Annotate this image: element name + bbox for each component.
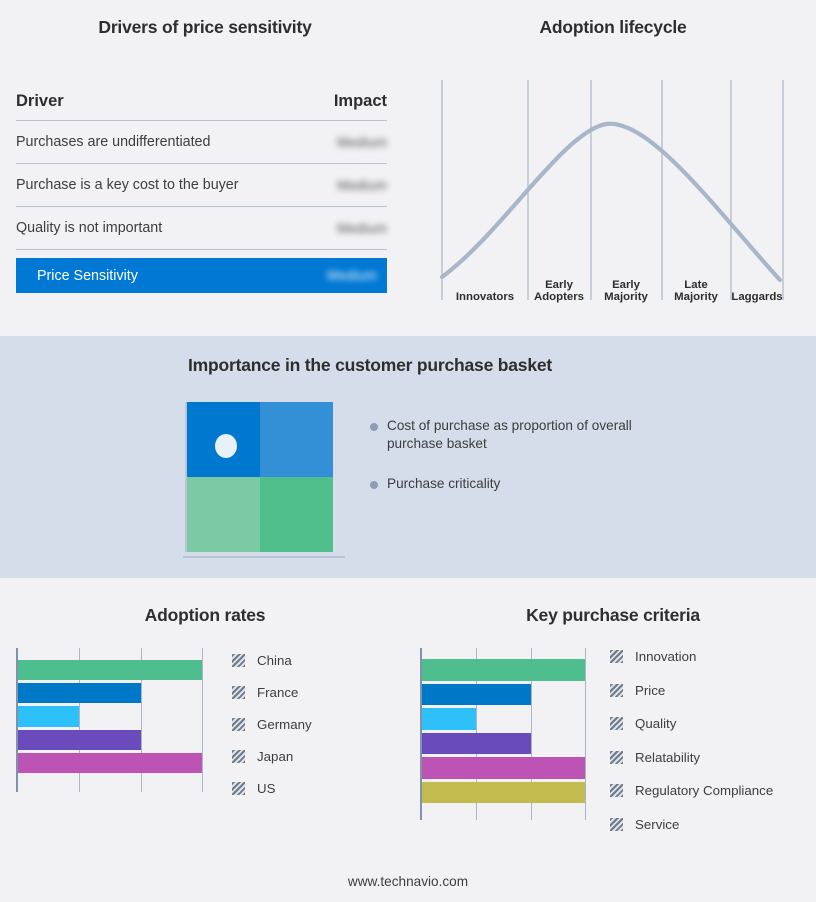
list-item: Relatability bbox=[610, 741, 773, 775]
impact-value: Medium bbox=[337, 135, 387, 150]
adoption-rates-legend: ChinaFranceGermanyJapanUS bbox=[232, 644, 312, 804]
criteria-chart bbox=[420, 648, 604, 820]
bar bbox=[422, 782, 585, 804]
drivers-title: Drivers of price sensitivity bbox=[0, 17, 410, 38]
legend-swatch-icon bbox=[232, 718, 245, 731]
driver-label: Quality is not important bbox=[16, 220, 162, 236]
summary-impact-value: Medium bbox=[327, 268, 377, 283]
list-item: China bbox=[232, 644, 312, 676]
list-item: Quality bbox=[610, 707, 773, 741]
legend-label: Germany bbox=[257, 717, 312, 732]
legend-label: Service bbox=[635, 817, 679, 832]
stage-label: Late bbox=[684, 279, 707, 291]
lifecycle-curve bbox=[442, 124, 780, 280]
bar bbox=[422, 733, 531, 755]
legend-item: Cost of purchase as proportion of overal… bbox=[370, 417, 670, 453]
impact-value: Medium bbox=[337, 178, 387, 193]
drivers-panel: Drivers of price sensitivity Driver Impa… bbox=[0, 0, 410, 336]
stage-label: Majority bbox=[604, 291, 648, 303]
stage-label: Early bbox=[545, 279, 574, 291]
bullet-icon bbox=[370, 481, 378, 489]
list-item: Innovation bbox=[610, 640, 773, 674]
bar bbox=[18, 706, 79, 726]
list-item: Price bbox=[610, 674, 773, 708]
list-item: Germany bbox=[232, 708, 312, 740]
matrix-quadrant-bottom-right bbox=[260, 477, 333, 552]
legend-label: Cost of purchase as proportion of overal… bbox=[387, 417, 670, 453]
legend-swatch-icon bbox=[232, 750, 245, 763]
impact-value: Medium bbox=[337, 221, 387, 236]
matrix-quadrant-bottom-left bbox=[187, 477, 260, 552]
legend-swatch-icon bbox=[610, 717, 623, 730]
criteria-title: Key purchase criteria bbox=[410, 605, 816, 626]
legend-swatch-icon bbox=[610, 684, 623, 697]
bar bbox=[18, 753, 202, 773]
list-item: Regulatory Compliance bbox=[610, 774, 773, 808]
bar bbox=[422, 684, 531, 706]
matrix-title: Importance in the customer purchase bask… bbox=[0, 355, 740, 376]
lifecycle-panel: Adoption lifecycle Innovators Early Adop… bbox=[410, 0, 816, 336]
plot-area bbox=[16, 648, 224, 792]
stage-label: Laggards bbox=[731, 291, 782, 303]
bar bbox=[18, 683, 141, 703]
bar bbox=[422, 708, 476, 730]
legend-item: Purchase criticality bbox=[370, 475, 670, 493]
matrix-x-axis bbox=[183, 556, 345, 558]
criteria-panel: Key purchase criteria InnovationPriceQua… bbox=[410, 578, 816, 902]
legend-swatch-icon bbox=[610, 784, 623, 797]
legend-swatch-icon bbox=[232, 782, 245, 795]
legend-swatch-icon bbox=[610, 818, 623, 831]
list-item: France bbox=[232, 676, 312, 708]
lifecycle-title: Adoption lifecycle bbox=[410, 17, 816, 38]
legend-label: Japan bbox=[257, 749, 293, 764]
footer-url: www.technavio.com bbox=[0, 874, 816, 889]
lifecycle-gridlines bbox=[442, 80, 783, 300]
legend-label: China bbox=[257, 653, 292, 668]
legend-label: Quality bbox=[635, 716, 676, 731]
list-item: US bbox=[232, 772, 312, 804]
stage-label: Innovators bbox=[456, 291, 514, 303]
driver-label: Purchases are undifferentiated bbox=[16, 134, 210, 150]
table-row: Purchases are undifferentiated Medium bbox=[16, 121, 387, 164]
list-item: Japan bbox=[232, 740, 312, 772]
matrix-quadrant-top-right bbox=[260, 402, 333, 477]
drivers-table: Driver Impact Purchases are undifferenti… bbox=[16, 92, 387, 293]
bar bbox=[18, 660, 202, 680]
plot-area bbox=[420, 648, 604, 820]
bar bbox=[422, 659, 585, 681]
importance-matrix bbox=[185, 402, 333, 552]
legend-label: US bbox=[257, 781, 275, 796]
summary-label: Price Sensitivity bbox=[37, 268, 138, 284]
matrix-legend: Cost of purchase as proportion of overal… bbox=[370, 417, 670, 515]
bullet-icon bbox=[370, 423, 378, 431]
legend-swatch-icon bbox=[610, 751, 623, 764]
table-row: Quality is not important Medium bbox=[16, 207, 387, 250]
list-item: Service bbox=[610, 808, 773, 842]
bar bbox=[18, 730, 141, 750]
adoption-rates-chart bbox=[16, 648, 224, 792]
lifecycle-chart: Innovators Early Adopters Early Majority… bbox=[428, 72, 798, 312]
legend-label: Price bbox=[635, 683, 665, 698]
criteria-legend: InnovationPriceQualityRelatabilityRegula… bbox=[610, 640, 773, 841]
column-header-impact: Impact bbox=[334, 92, 387, 111]
adoption-rates-panel: Adoption rates ChinaFranceGermanyJapanUS bbox=[0, 578, 410, 902]
gridline bbox=[202, 648, 203, 792]
matrix-quadrant-top-left bbox=[187, 402, 260, 477]
legend-label: Relatability bbox=[635, 750, 700, 765]
stage-label: Majority bbox=[674, 291, 718, 303]
stage-label: Early bbox=[612, 279, 641, 291]
gridline bbox=[585, 648, 586, 820]
drivers-table-header: Driver Impact bbox=[16, 92, 387, 121]
legend-label: Purchase criticality bbox=[387, 475, 500, 493]
bar bbox=[422, 757, 585, 779]
legend-swatch-icon bbox=[232, 686, 245, 699]
lifecycle-stage-labels: Innovators Early Adopters Early Majority… bbox=[456, 279, 783, 303]
legend-label: France bbox=[257, 685, 298, 700]
price-sensitivity-summary-row: Price Sensitivity Medium bbox=[16, 258, 387, 293]
table-row: Purchase is a key cost to the buyer Medi… bbox=[16, 164, 387, 207]
driver-label: Purchase is a key cost to the buyer bbox=[16, 177, 239, 193]
matrix-panel: Importance in the customer purchase bask… bbox=[0, 336, 816, 578]
matrix-position-marker bbox=[215, 434, 237, 458]
column-header-driver: Driver bbox=[16, 92, 64, 111]
adoption-rates-title: Adoption rates bbox=[0, 605, 410, 626]
legend-label: Regulatory Compliance bbox=[635, 783, 773, 798]
legend-swatch-icon bbox=[232, 654, 245, 667]
stage-label: Adopters bbox=[534, 291, 584, 303]
legend-label: Innovation bbox=[635, 649, 696, 664]
legend-swatch-icon bbox=[610, 650, 623, 663]
